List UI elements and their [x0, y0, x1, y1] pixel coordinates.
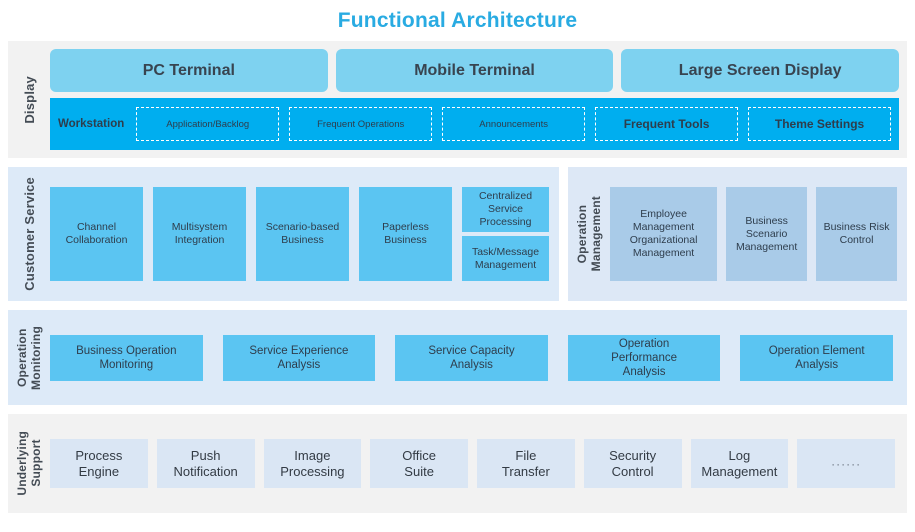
workstation-label: Workstation [58, 118, 126, 130]
operation-management-cards: EmployeeManagementOrganizationalManageme… [610, 167, 907, 301]
underlying-support-cards: ProcessEngine PushNotification ImageProc… [50, 414, 907, 513]
customer-service-section-label: Customer Service [8, 167, 50, 301]
terminal-pc[interactable]: PC Terminal [50, 49, 328, 92]
display-section-label: Display [8, 41, 50, 158]
card-security-control[interactable]: SecurityControl [584, 439, 682, 488]
operation-monitoring-section-label-text: OperationMonitoring [15, 326, 43, 390]
workstation-item-frequent-operations[interactable]: Frequent Operations [289, 107, 432, 141]
card-multisystem-integration[interactable]: MultisystemIntegration [153, 187, 246, 281]
customer-service-section: Customer Service ChannelCollaboration Mu… [8, 167, 559, 301]
operation-monitoring-section: OperationMonitoring Business OperationMo… [8, 310, 907, 405]
card-service-experience-analysis[interactable]: Service ExperienceAnalysis [223, 335, 376, 381]
card-task-message-management[interactable]: Task/MessageManagement [462, 236, 549, 281]
terminal-row: PC Terminal Mobile Terminal Large Screen… [50, 49, 899, 92]
card-centralized-service-processing[interactable]: Centralized ServiceProcessing [462, 187, 549, 232]
card-channel-collaboration[interactable]: ChannelCollaboration [50, 187, 143, 281]
underlying-support-section-label-text: UnderlyingSupport [15, 431, 43, 496]
card-process-engine[interactable]: ProcessEngine [50, 439, 148, 488]
display-section-content: PC Terminal Mobile Terminal Large Screen… [50, 41, 907, 158]
functional-architecture-diagram: Functional Architecture Display PC Termi… [0, 0, 915, 532]
card-business-scenario-management[interactable]: BusinessScenarioManagement [726, 187, 807, 281]
card-more-ellipsis[interactable]: ······ [797, 439, 895, 488]
display-section-label-text: Display [22, 76, 37, 124]
terminal-large-screen[interactable]: Large Screen Display [621, 49, 899, 92]
page-title: Functional Architecture [0, 0, 915, 41]
card-business-risk-control[interactable]: Business RiskControl [816, 187, 897, 281]
workstation-item-frequent-tools[interactable]: Frequent Tools [595, 107, 738, 141]
card-image-processing[interactable]: ImageProcessing [264, 439, 362, 488]
card-file-transfer[interactable]: FileTransfer [477, 439, 575, 488]
terminal-mobile[interactable]: Mobile Terminal [336, 49, 614, 92]
customer-service-cards: ChannelCollaboration MultisystemIntegrat… [50, 167, 559, 301]
display-section: Display PC Terminal Mobile Terminal Larg… [8, 41, 907, 158]
card-employee-management-organizational-management[interactable]: EmployeeManagementOrganizationalManageme… [610, 187, 717, 281]
operation-management-section-label: OperationManagement [568, 167, 610, 301]
card-log-management[interactable]: LogManagement [691, 439, 789, 488]
customer-service-card-stack: Centralized ServiceProcessing Task/Messa… [462, 187, 549, 281]
middle-row: Customer Service ChannelCollaboration Mu… [8, 167, 907, 301]
card-operation-performance-analysis[interactable]: OperationPerformanceAnalysis [568, 335, 721, 381]
customer-service-section-label-text: Customer Service [22, 177, 37, 291]
card-service-capacity-analysis[interactable]: Service CapacityAnalysis [395, 335, 548, 381]
workstation-row: Workstation Application/Backlog Frequent… [50, 98, 899, 150]
card-paperless-business[interactable]: PaperlessBusiness [359, 187, 452, 281]
operation-management-section-label-text: OperationManagement [575, 196, 603, 271]
card-scenario-based-business[interactable]: Scenario-basedBusiness [256, 187, 349, 281]
card-push-notification[interactable]: PushNotification [157, 439, 255, 488]
workstation-item-theme-settings[interactable]: Theme Settings [748, 107, 891, 141]
card-business-operation-monitoring[interactable]: Business OperationMonitoring [50, 335, 203, 381]
underlying-support-section-label: UnderlyingSupport [8, 414, 50, 513]
operation-management-section: OperationManagement EmployeeManagementOr… [568, 167, 907, 301]
workstation-item-application-backlog[interactable]: Application/Backlog [136, 107, 279, 141]
workstation-item-announcements[interactable]: Announcements [442, 107, 585, 141]
card-office-suite[interactable]: OfficeSuite [370, 439, 468, 488]
card-operation-element-analysis[interactable]: Operation ElementAnalysis [740, 335, 893, 381]
operation-monitoring-section-label: OperationMonitoring [8, 310, 50, 405]
operation-monitoring-cards: Business OperationMonitoring Service Exp… [50, 310, 907, 405]
underlying-support-section: UnderlyingSupport ProcessEngine PushNoti… [8, 414, 907, 513]
